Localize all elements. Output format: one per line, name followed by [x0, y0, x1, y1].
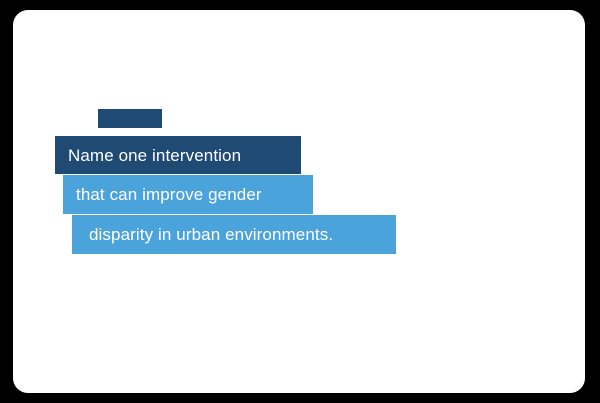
- content-card: Name one intervention that can improve g…: [13, 10, 585, 393]
- caption-line-2: that can improve gender: [63, 175, 313, 214]
- caption-line-1: Name one intervention: [55, 136, 301, 174]
- caption-block: Name one intervention that can improve g…: [13, 10, 585, 393]
- caption-line-3: disparity in urban environments.: [72, 215, 396, 254]
- screen: Name one intervention that can improve g…: [0, 0, 600, 403]
- caption-stub-bar: [98, 109, 162, 128]
